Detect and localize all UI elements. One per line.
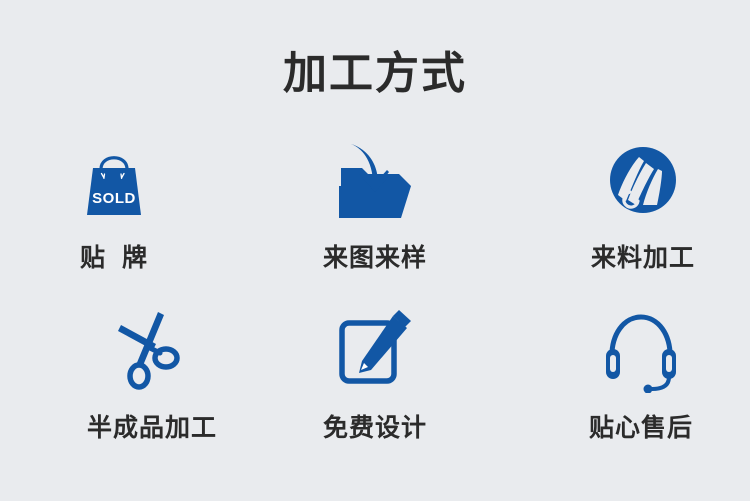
feature-label: 来料加工 xyxy=(591,242,695,274)
processing-methods-panel: 加工方式 SOLD 贴 牌 xyxy=(0,0,750,501)
folder-download-arrow-icon xyxy=(329,130,421,230)
sold-badge-text: SOLD xyxy=(92,190,136,207)
feature-label: 贴心售后 xyxy=(589,412,693,444)
feature-item-free-design[interactable]: 免费设计 xyxy=(250,300,500,470)
scissors-icon xyxy=(108,300,196,400)
feature-item-after-sales[interactable]: 贴心售后 xyxy=(516,300,750,470)
feature-item-custom-design[interactable]: 来图来样 xyxy=(250,130,500,300)
feature-label: 来图来样 xyxy=(323,242,427,274)
feature-label: 贴 牌 xyxy=(80,242,148,274)
headset-support-icon xyxy=(598,300,684,400)
feature-label: 半成品加工 xyxy=(87,412,217,444)
feature-grid: SOLD 贴 牌 来图来样 xyxy=(0,130,750,470)
pen-square-edit-icon xyxy=(331,300,419,400)
feature-label: 免费设计 xyxy=(323,412,427,444)
feature-item-branding[interactable]: SOLD 贴 牌 xyxy=(0,130,239,300)
page-title: 加工方式 xyxy=(0,46,750,102)
feature-item-material-processing[interactable]: 来料加工 xyxy=(518,130,750,300)
fabric-roll-circle-icon xyxy=(602,130,684,230)
feature-item-semi-finished[interactable]: 半成品加工 xyxy=(27,300,277,470)
shopping-bag-sold-icon: SOLD xyxy=(71,130,157,230)
